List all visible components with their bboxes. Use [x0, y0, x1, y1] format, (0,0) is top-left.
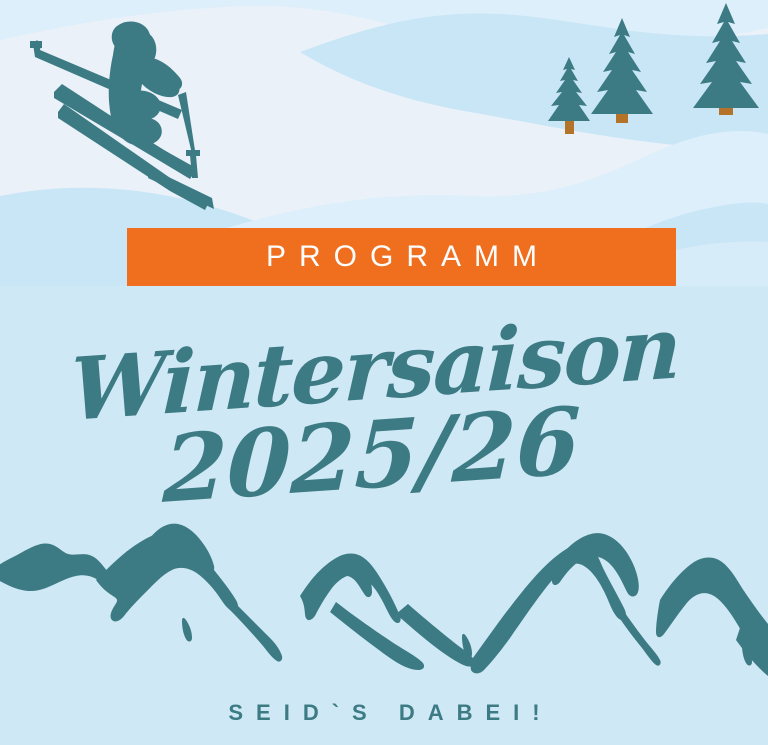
tagline: SEID`S DABEI! — [0, 700, 768, 726]
programm-banner: PROGRAMM — [127, 228, 676, 286]
programm-banner-label: PROGRAMM — [253, 242, 550, 272]
winter-program-poster: PROGRAMM Wintersaison 2025/26 — [0, 0, 768, 745]
mountain-range-icon — [0, 524, 768, 676]
mountains-layer — [0, 0, 768, 745]
